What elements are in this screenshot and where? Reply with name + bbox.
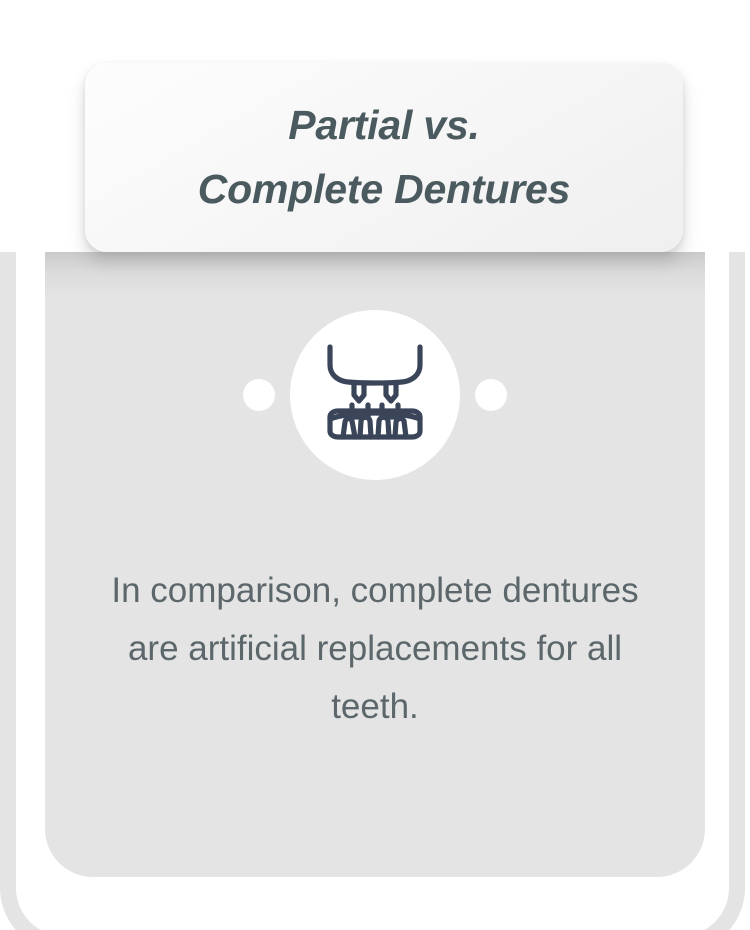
card-title-panel: Partial vs. Complete Dentures <box>85 63 683 252</box>
dentures-icon <box>316 339 434 451</box>
decor-dot-left-icon <box>243 379 275 411</box>
icon-circle-background <box>290 310 460 480</box>
card-body-text: In comparison, complete dentures are art… <box>85 562 665 735</box>
infographic-card: In comparison, complete dentures are art… <box>0 0 750 930</box>
title-card-dropshadow <box>45 252 705 298</box>
icon-row <box>45 310 705 480</box>
card-body: In comparison, complete dentures are art… <box>45 252 705 877</box>
decor-dot-right-icon <box>475 379 507 411</box>
card-title: Partial vs. Complete Dentures <box>178 94 591 221</box>
